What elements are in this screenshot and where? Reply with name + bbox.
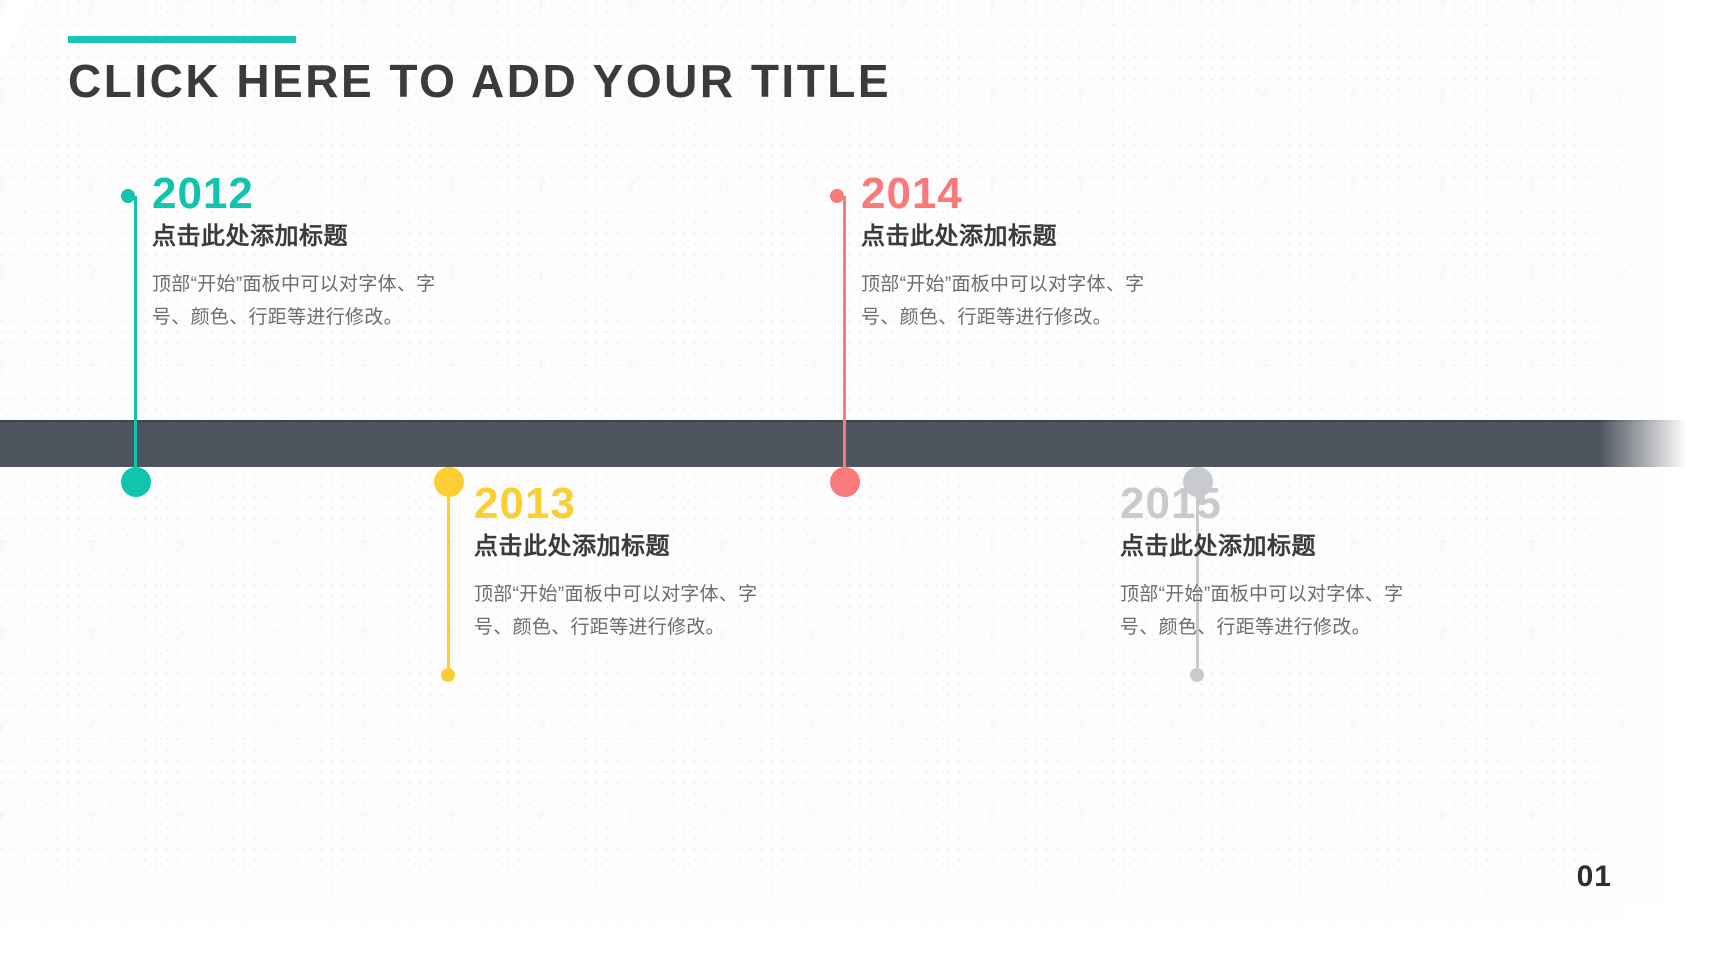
entry-year-2015: 2015: [1120, 482, 1420, 526]
timeline-entry-2012[interactable]: 2012 点击此处添加标题 顶部“开始”面板中可以对字体、字号、颜色、行距等进行…: [152, 172, 452, 335]
entry-body-2015: 顶部“开始”面板中可以对字体、字号、颜色、行距等进行修改。: [1120, 578, 1420, 645]
timeline-entry-2013[interactable]: 2013 点击此处添加标题 顶部“开始”面板中可以对字体、字号、颜色、行距等进行…: [474, 482, 774, 645]
timeline-bar: [0, 420, 1720, 467]
page-title[interactable]: CLICK HERE TO ADD YOUR TITLE: [68, 54, 891, 108]
entry-body-2014: 顶部“开始”面板中可以对字体、字号、颜色、行距等进行修改。: [861, 268, 1161, 335]
connector-endpoint-2014: [830, 189, 844, 203]
connector-endpoint-2015: [1190, 668, 1204, 682]
paper-texture-overlay: [0, 0, 1720, 966]
connector-line-2014: [843, 196, 846, 468]
timeline-entry-2014[interactable]: 2014 点击此处添加标题 顶部“开始”面板中可以对字体、字号、颜色、行距等进行…: [861, 172, 1161, 335]
timeline-dot-2014[interactable]: [830, 467, 860, 497]
connector-line-2013: [447, 467, 450, 681]
connector-endpoint-2012: [121, 189, 135, 203]
timeline-dot-2013[interactable]: [434, 467, 464, 497]
entry-subtitle-2012: 点击此处添加标题: [152, 222, 452, 252]
entry-body-2012: 顶部“开始”面板中可以对字体、字号、颜色、行距等进行修改。: [152, 268, 452, 335]
page-number: 01: [1577, 860, 1612, 894]
entry-year-2014: 2014: [861, 172, 1161, 216]
connector-line-2012: [134, 196, 137, 468]
entry-subtitle-2013: 点击此处添加标题: [474, 532, 774, 562]
entry-year-2013: 2013: [474, 482, 774, 526]
bottom-edge-fade: [0, 856, 1720, 966]
entry-subtitle-2014: 点击此处添加标题: [861, 222, 1161, 252]
entry-body-2013: 顶部“开始”面板中可以对字体、字号、颜色、行距等进行修改。: [474, 578, 774, 645]
timeline-dot-2012[interactable]: [121, 467, 151, 497]
timeline-entry-2015[interactable]: 2015 点击此处添加标题 顶部“开始”面板中可以对字体、字号、颜色、行距等进行…: [1120, 482, 1420, 645]
timeline-dot-2015[interactable]: [1183, 467, 1213, 497]
right-edge-fade: [1600, 0, 1720, 966]
entry-subtitle-2015: 点击此处添加标题: [1120, 532, 1420, 562]
connector-endpoint-2013: [441, 668, 455, 682]
title-accent-rule: [68, 36, 296, 43]
entry-year-2012: 2012: [152, 172, 452, 216]
